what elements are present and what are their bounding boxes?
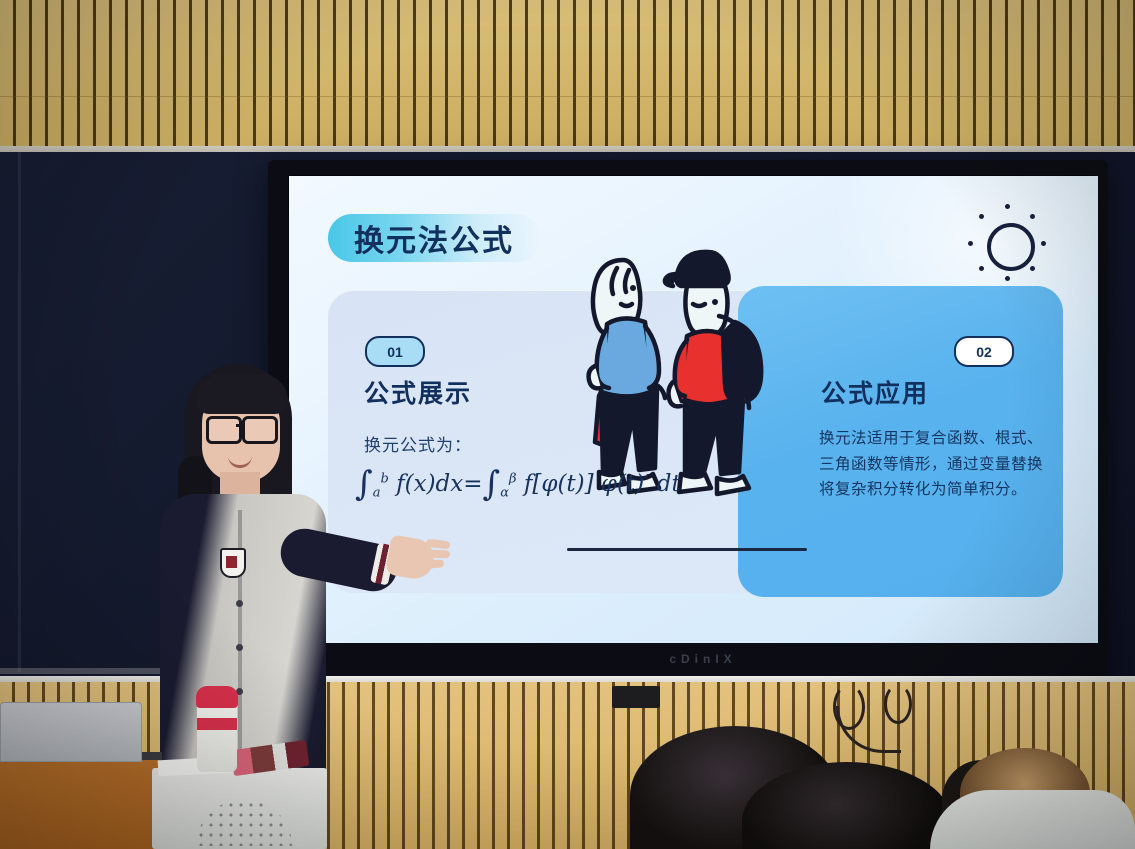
display-brand-label: cDinIX (608, 652, 798, 668)
section-heading-right: 公式应用 (821, 374, 929, 410)
formula-equals: = (463, 471, 482, 497)
wooden-desk (0, 760, 160, 849)
speaker-grille (196, 800, 292, 846)
section-body-right: 换元法适用于复合函数、根式、三角函数等情形，通过变量替换将复杂积分转化为简单积分… (819, 426, 1054, 503)
illustration-ground-line (567, 548, 807, 551)
slide-title-pill: 换元法公式 (328, 214, 540, 262)
presenter-figure (150, 360, 410, 790)
illustration-svg (559, 196, 819, 596)
glasses-left-lens (206, 416, 242, 444)
student-front-right-jacket (930, 790, 1135, 849)
formula-int2-body: f[φ(t)] φ(t)′ dt (524, 471, 681, 497)
presenter-fringe (196, 374, 288, 414)
formula-int2-lower: α (500, 486, 509, 501)
section-badge-02: 02 (954, 336, 1014, 367)
glasses-right-lens (242, 416, 278, 444)
formula-int2-upper: β (509, 471, 517, 486)
wood-slat-wall-upper (0, 0, 1135, 152)
jacket-crest-patch (220, 548, 246, 578)
bottle-band (197, 718, 237, 730)
lectern (152, 768, 327, 849)
page-title: 换元法公式 (354, 216, 514, 260)
classroom-scene: cDinIX 换元法公式 (0, 0, 1135, 849)
bottle-cap (196, 686, 238, 708)
sun-icon (968, 204, 1046, 282)
two-walking-students-illustration (559, 196, 819, 596)
laptop[interactable] (0, 702, 142, 762)
blackboard-frame-left (18, 152, 21, 672)
glasses-bridge (236, 424, 244, 427)
wall-socket (612, 686, 660, 708)
